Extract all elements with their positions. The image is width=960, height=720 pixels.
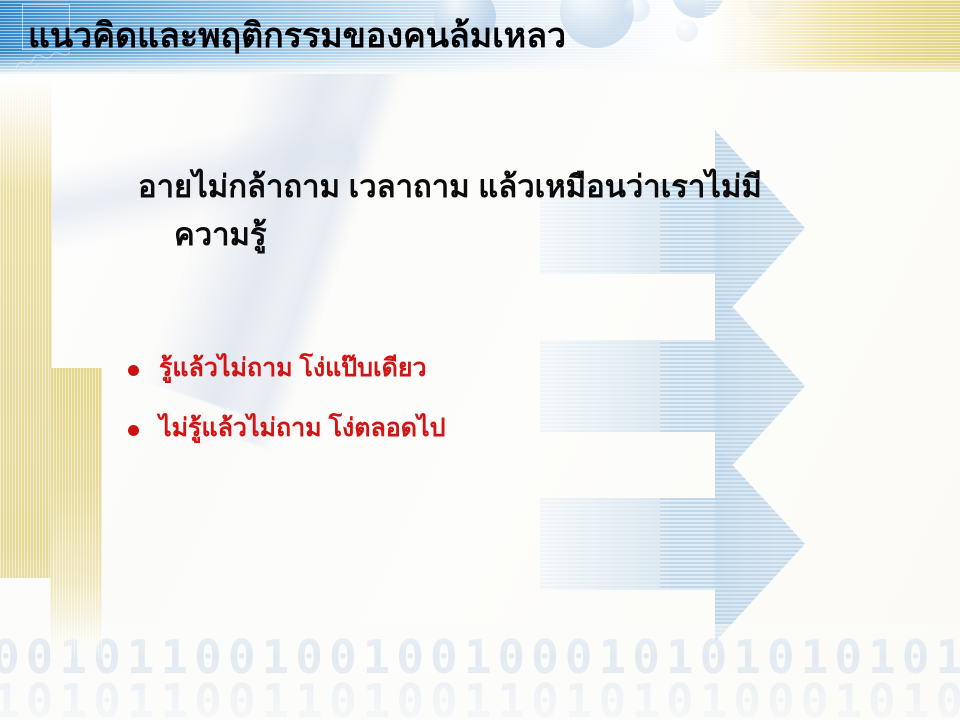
slide-body-text: อายไม่กล้าถาม เวลาถาม แล้วเหมือนว่าเราไม… [138, 163, 838, 259]
bullet-list-item-1: รู้แล้วไม่ถาม โง่แป๊บเดียว [128, 350, 728, 386]
body-line-2: ความรู้ [138, 211, 838, 259]
bullet-text-2: ไม่รู้แล้วไม่ถาม โง่ตลอดไป [159, 410, 446, 446]
presentation-slide: 0010110010010010001010101010101010101010… [0, 0, 960, 720]
bullet-list-item-2: ไม่รู้แล้วไม่ถาม โง่ตลอดไป [128, 410, 728, 446]
bullet-text-1: รู้แล้วไม่ถาม โง่แป๊บเดียว [159, 350, 427, 386]
gold-band-left-lower [50, 368, 102, 658]
bullet-dot-icon [128, 365, 139, 376]
bullet-list: รู้แล้วไม่ถาม โง่แป๊บเดียว ไม่รู้แล้วไม่… [128, 350, 728, 471]
slide-title: แนวคิดและพฤติกรรมของคนล้มเหลว [28, 18, 566, 55]
gold-band-top-right-fade [705, 0, 960, 78]
bullet-dot-icon [128, 425, 139, 436]
gold-band-left-upper [0, 78, 52, 578]
body-line-1: อายไม่กล้าถาม เวลาถาม แล้วเหมือนว่าเราไม… [138, 163, 838, 211]
